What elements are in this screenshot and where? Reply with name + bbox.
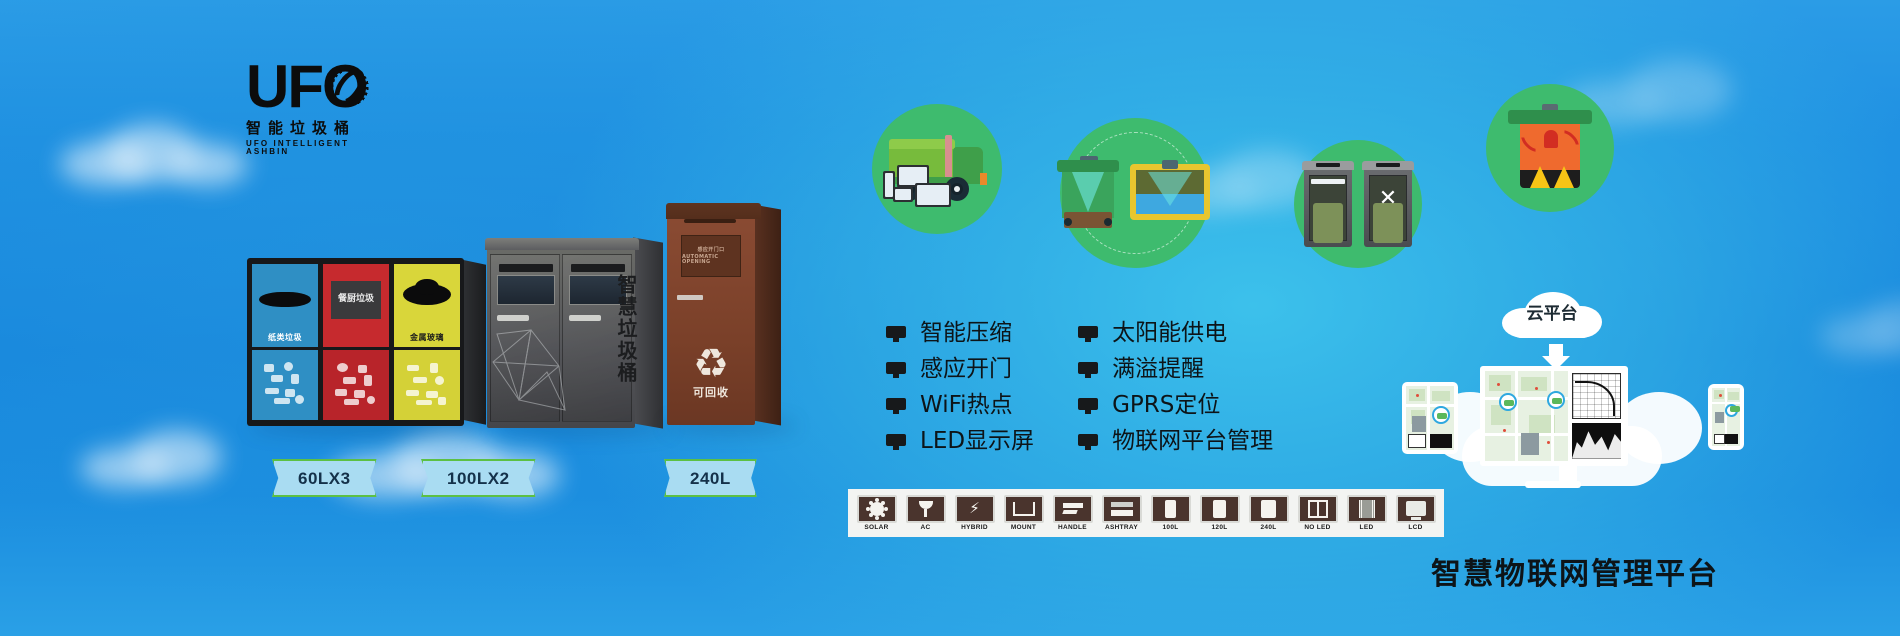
ashtray-icon — [1102, 495, 1142, 523]
monitor-bullet-icon — [886, 434, 906, 450]
feature-item: 物联网平台管理 — [1078, 430, 1273, 453]
bin-panel-label: 餐厨垃圾 — [331, 281, 381, 319]
banner-canvas: UFO 智能垃圾桶 UFO INTELLIGENT ASHBIN 纸类垃圾 — [0, 0, 1900, 636]
bin-handle — [677, 295, 703, 300]
feature-item: 感应开门 — [886, 358, 1034, 381]
handle-icon — [1053, 495, 1093, 523]
feature-label: 智能压缩 — [920, 322, 1012, 345]
feature-item: LED显示屏 — [886, 430, 1034, 453]
cloud-decoration — [60, 120, 250, 190]
capacity-ribbon-60lx3: 60LX3 — [272, 459, 377, 497]
sun-icon — [857, 495, 897, 523]
feature-item: 智能压缩 — [886, 322, 1034, 345]
spec-no-led[interactable]: NO LED — [1296, 495, 1339, 532]
highlight-circle-fill-level — [1060, 118, 1210, 268]
tablet-map-view — [1406, 386, 1454, 450]
feature-label: GPRS定位 — [1112, 394, 1220, 417]
phone-map-view — [1712, 388, 1740, 446]
bin-display-screen — [497, 275, 555, 305]
feature-list: 智能压缩 感应开门 WiFi热点 LED显示屏 太阳能供电 满溢提醒 GPRS定… — [886, 322, 1273, 453]
plug-icon — [906, 495, 946, 523]
logo-english-name: UFO INTELLIGENT ASHBIN — [246, 140, 372, 156]
feature-label: 感应开门 — [920, 358, 1012, 381]
feature-label: WiFi热点 — [920, 394, 1013, 417]
bin-vertical-label: 智慧垃圾桶 — [611, 274, 637, 384]
smartphone-device — [1708, 384, 1744, 450]
highlight-circle-truck — [872, 104, 1002, 234]
spec-label: LED — [1360, 525, 1374, 532]
bin-panel-label: 金属玻璃 — [394, 334, 460, 342]
monitor-bullet-icon — [1078, 434, 1098, 450]
desktop-monitor — [1480, 366, 1628, 466]
logo-ring-icon — [327, 56, 372, 118]
monitor-map-view — [1485, 371, 1568, 461]
spec-label: HYBRID — [961, 525, 988, 532]
brand-logo: UFO 智能垃圾桶 UFO INTELLIGENT ASHBIN — [246, 56, 372, 156]
feature-item: GPRS定位 — [1078, 394, 1273, 417]
feature-label: LED显示屏 — [920, 430, 1034, 453]
ultrasonic-fill-sensor-icon — [1060, 154, 1210, 232]
bin-panel-label: 可回收 — [667, 387, 755, 398]
bin-top-cap — [666, 203, 761, 219]
spec-ac[interactable]: AC — [904, 495, 947, 532]
feature-item: 满溢提醒 — [1078, 358, 1273, 381]
monitor-bullet-icon — [1078, 362, 1098, 378]
bin-240l-icon — [1249, 495, 1289, 523]
spec-label: SOLAR — [864, 525, 888, 532]
monitor-line-chart — [1572, 373, 1621, 419]
spec-options-strip: SOLAR AC ⚡HYBRID MOUNT HANDLE ASHTRAY 10… — [848, 489, 1444, 537]
cloud-decoration — [1820, 300, 1900, 360]
bin-240l: 感应开门口 AUTOMATIC OPENING ♻ 可回收 — [667, 203, 779, 425]
monitor-bullet-icon — [886, 326, 906, 342]
highlight-circle-fire-alarm — [1486, 84, 1614, 212]
bin-panel-kitchen: 餐厨垃圾 — [323, 264, 389, 420]
platform-title: 智慧物联网管理平台 — [1390, 560, 1760, 590]
bin-100lx2: 智慧垃圾桶 — [487, 238, 647, 428]
bin-120l-icon — [1200, 495, 1240, 523]
spec-label: AC — [921, 525, 931, 532]
spec-label: MOUNT — [1011, 525, 1036, 532]
bin-panel-metal-glass: 金属玻璃 — [394, 264, 460, 420]
logo-chinese-name: 智能垃圾桶 — [246, 121, 372, 136]
monitor-bullet-icon — [1078, 398, 1098, 414]
mount-bracket-icon — [1004, 495, 1044, 523]
tablet-device — [1402, 382, 1458, 454]
bin-side-panel — [753, 205, 781, 426]
feature-item: 太阳能供电 — [1078, 322, 1273, 345]
led-icon — [1347, 495, 1387, 523]
monitor-bullet-icon — [886, 398, 906, 414]
highlight-circle-compaction: ✕ — [1294, 140, 1422, 268]
spec-led[interactable]: LED — [1345, 495, 1388, 532]
spec-100l[interactable]: 100L — [1149, 495, 1192, 532]
litter-graphic — [330, 360, 383, 411]
spec-label: ASHTRAY — [1105, 525, 1138, 532]
polygon-pattern — [489, 314, 609, 424]
monitor-stand — [1559, 464, 1577, 482]
spec-240l[interactable]: 240L — [1247, 495, 1290, 532]
litter-graphic — [259, 360, 312, 411]
spec-handle[interactable]: HANDLE — [1051, 495, 1094, 532]
feature-column-left: 智能压缩 感应开门 WiFi热点 LED显示屏 — [886, 322, 1034, 453]
monitor-area-chart — [1572, 423, 1621, 459]
recycle-symbol-icon: ♻ — [689, 343, 733, 385]
capacity-ribbon-240l: 240L — [664, 459, 757, 497]
spec-label: HANDLE — [1058, 525, 1087, 532]
monitor-bullet-icon — [886, 362, 906, 378]
compaction-bin-icon: ✕ — [1304, 161, 1412, 247]
bolt-icon: ⚡ — [955, 495, 995, 523]
feature-item: WiFi热点 — [886, 394, 1034, 417]
cloud-decoration — [80, 430, 260, 490]
bin-display-screen: 感应开门口 AUTOMATIC OPENING — [681, 235, 741, 277]
spec-ashtray[interactable]: ASHTRAY — [1100, 495, 1143, 532]
feature-label: 物联网平台管理 — [1112, 430, 1273, 453]
cloud-bubble: 云平台 — [1502, 292, 1602, 338]
bin-panel-label: 纸类垃圾 — [252, 334, 318, 342]
logo-mark: UFO — [246, 56, 372, 118]
spec-solar[interactable]: SOLAR — [855, 495, 898, 532]
bin-top-cap — [485, 238, 639, 250]
bin-100l-icon — [1151, 495, 1191, 523]
feature-label: 太阳能供电 — [1112, 322, 1227, 345]
spec-label: NO LED — [1304, 525, 1330, 532]
screen-line-1: 感应开门口 — [697, 248, 724, 253]
screen-line-2: AUTOMATIC OPENING — [682, 255, 740, 265]
spec-label: 100L — [1162, 525, 1178, 532]
no-led-icon — [1298, 495, 1338, 523]
monitor-bullet-icon — [1078, 326, 1098, 342]
iot-platform-illustration: 云平台 — [1402, 292, 1744, 544]
garbage-truck-icon — [883, 131, 991, 207]
spec-mount[interactable]: MOUNT — [1002, 495, 1045, 532]
litter-graphic — [401, 360, 454, 411]
capacity-ribbon-100lx2: 100LX2 — [421, 459, 536, 497]
feature-column-right: 太阳能供电 满溢提醒 GPRS定位 物联网平台管理 — [1078, 322, 1273, 453]
monitor-base — [1525, 481, 1581, 488]
spec-label: 240L — [1260, 525, 1276, 532]
bin-panel-paper: 纸类垃圾 — [252, 264, 318, 420]
spec-120l[interactable]: 120L — [1198, 495, 1241, 532]
feature-label: 满溢提醒 — [1112, 358, 1204, 381]
bin-60lx3: 纸类垃圾 餐厨垃圾 — [247, 258, 464, 426]
spec-label: 120L — [1211, 525, 1227, 532]
fire-alarm-bin-icon — [1508, 104, 1592, 192]
spec-hybrid[interactable]: ⚡HYBRID — [953, 495, 996, 532]
cloud-platform-label: 云平台 — [1502, 306, 1602, 323]
